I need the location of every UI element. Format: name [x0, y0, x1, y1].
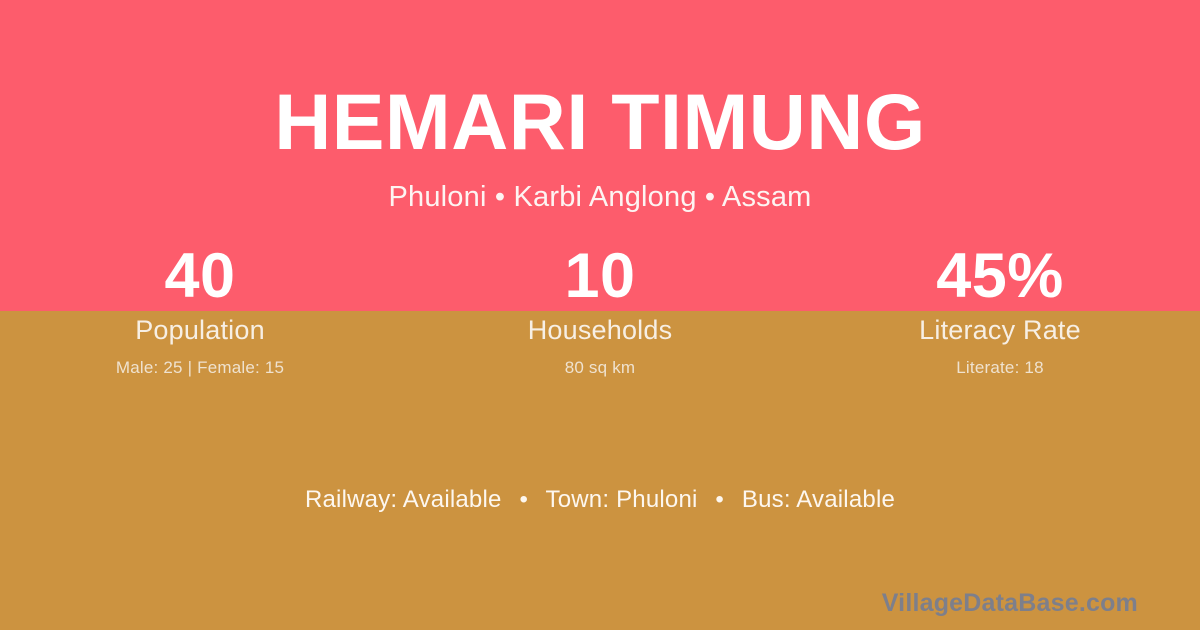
stats-row: 40 Population Male: 25 | Female: 15 10 H…	[0, 243, 1200, 378]
stat-subtext: Literate: 18	[800, 358, 1200, 378]
card-header: HEMARI TIMUNG Phuloni • Karbi Anglong • …	[0, 0, 1200, 212]
location-breadcrumb: Phuloni • Karbi Anglong • Assam	[0, 183, 1200, 212]
stat-literacy-rate: 45% Literacy Rate Literate: 18	[800, 243, 1200, 378]
stat-households: 10 Households 80 sq km	[400, 243, 800, 378]
stat-value: 45%	[800, 243, 1200, 309]
stat-value: 40	[0, 243, 400, 309]
stat-label: Literacy Rate	[800, 315, 1200, 345]
village-info-card: HEMARI TIMUNG Phuloni • Karbi Anglong • …	[0, 0, 1200, 630]
stat-subtext: 80 sq km	[400, 358, 800, 378]
stat-value: 10	[400, 243, 800, 309]
info-item-bus: Bus: Available	[742, 486, 895, 513]
stat-label: Population	[0, 315, 400, 345]
bullet-separator-icon: •	[508, 486, 539, 514]
amenities-info-line: Railway: Available • Town: Phuloni • Bus…	[0, 486, 1200, 514]
bullet-separator-icon: •	[704, 486, 735, 514]
info-item-town: Town: Phuloni	[546, 486, 698, 513]
stat-subtext: Male: 25 | Female: 15	[0, 358, 400, 378]
site-brand-watermark: VillageDataBase.com	[882, 589, 1138, 617]
stat-label: Households	[400, 315, 800, 345]
info-item-railway: Railway: Available	[305, 486, 502, 513]
stat-population: 40 Population Male: 25 | Female: 15	[0, 243, 400, 378]
page-title: HEMARI TIMUNG	[0, 82, 1200, 161]
